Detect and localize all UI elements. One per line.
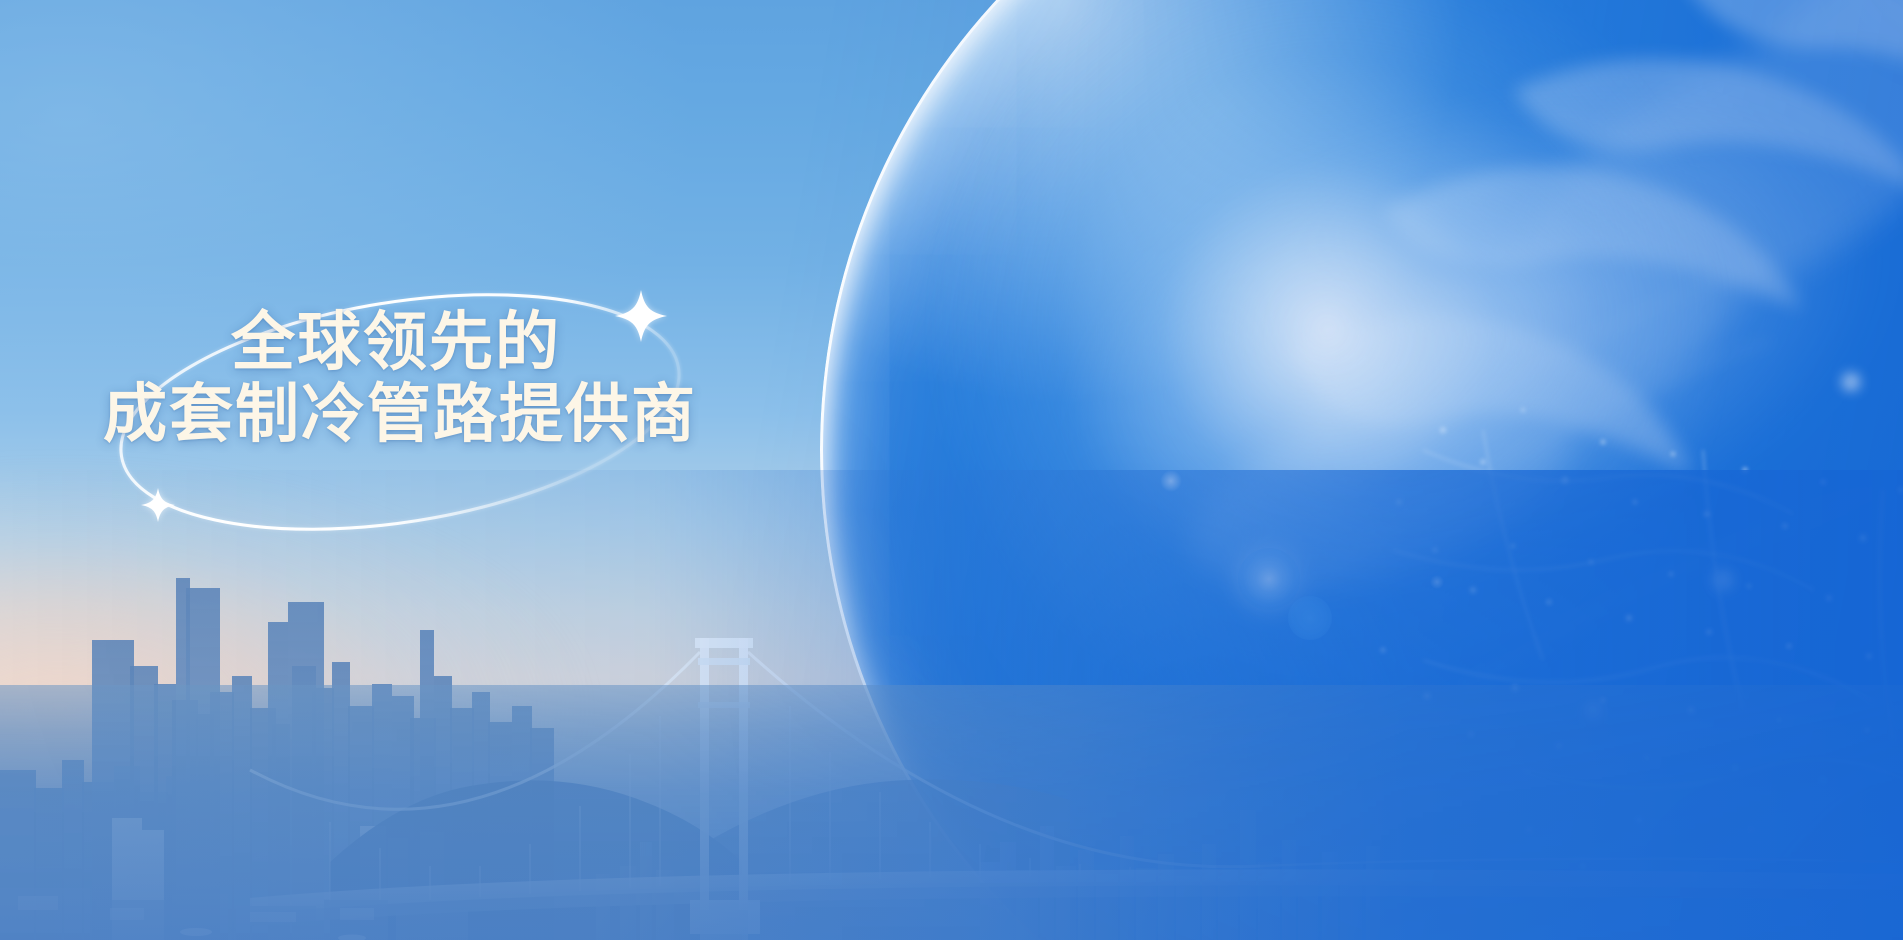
hero-banner: 全球领先的 成套制冷管路提供商: [0, 0, 1903, 940]
water-color-blend: [0, 470, 1903, 940]
headline-block: 全球领先的 成套制冷管路提供商: [103, 307, 863, 450]
headline-line-1: 全球领先的: [103, 307, 863, 379]
headline-line-2: 成套制冷管路提供商: [103, 379, 863, 451]
